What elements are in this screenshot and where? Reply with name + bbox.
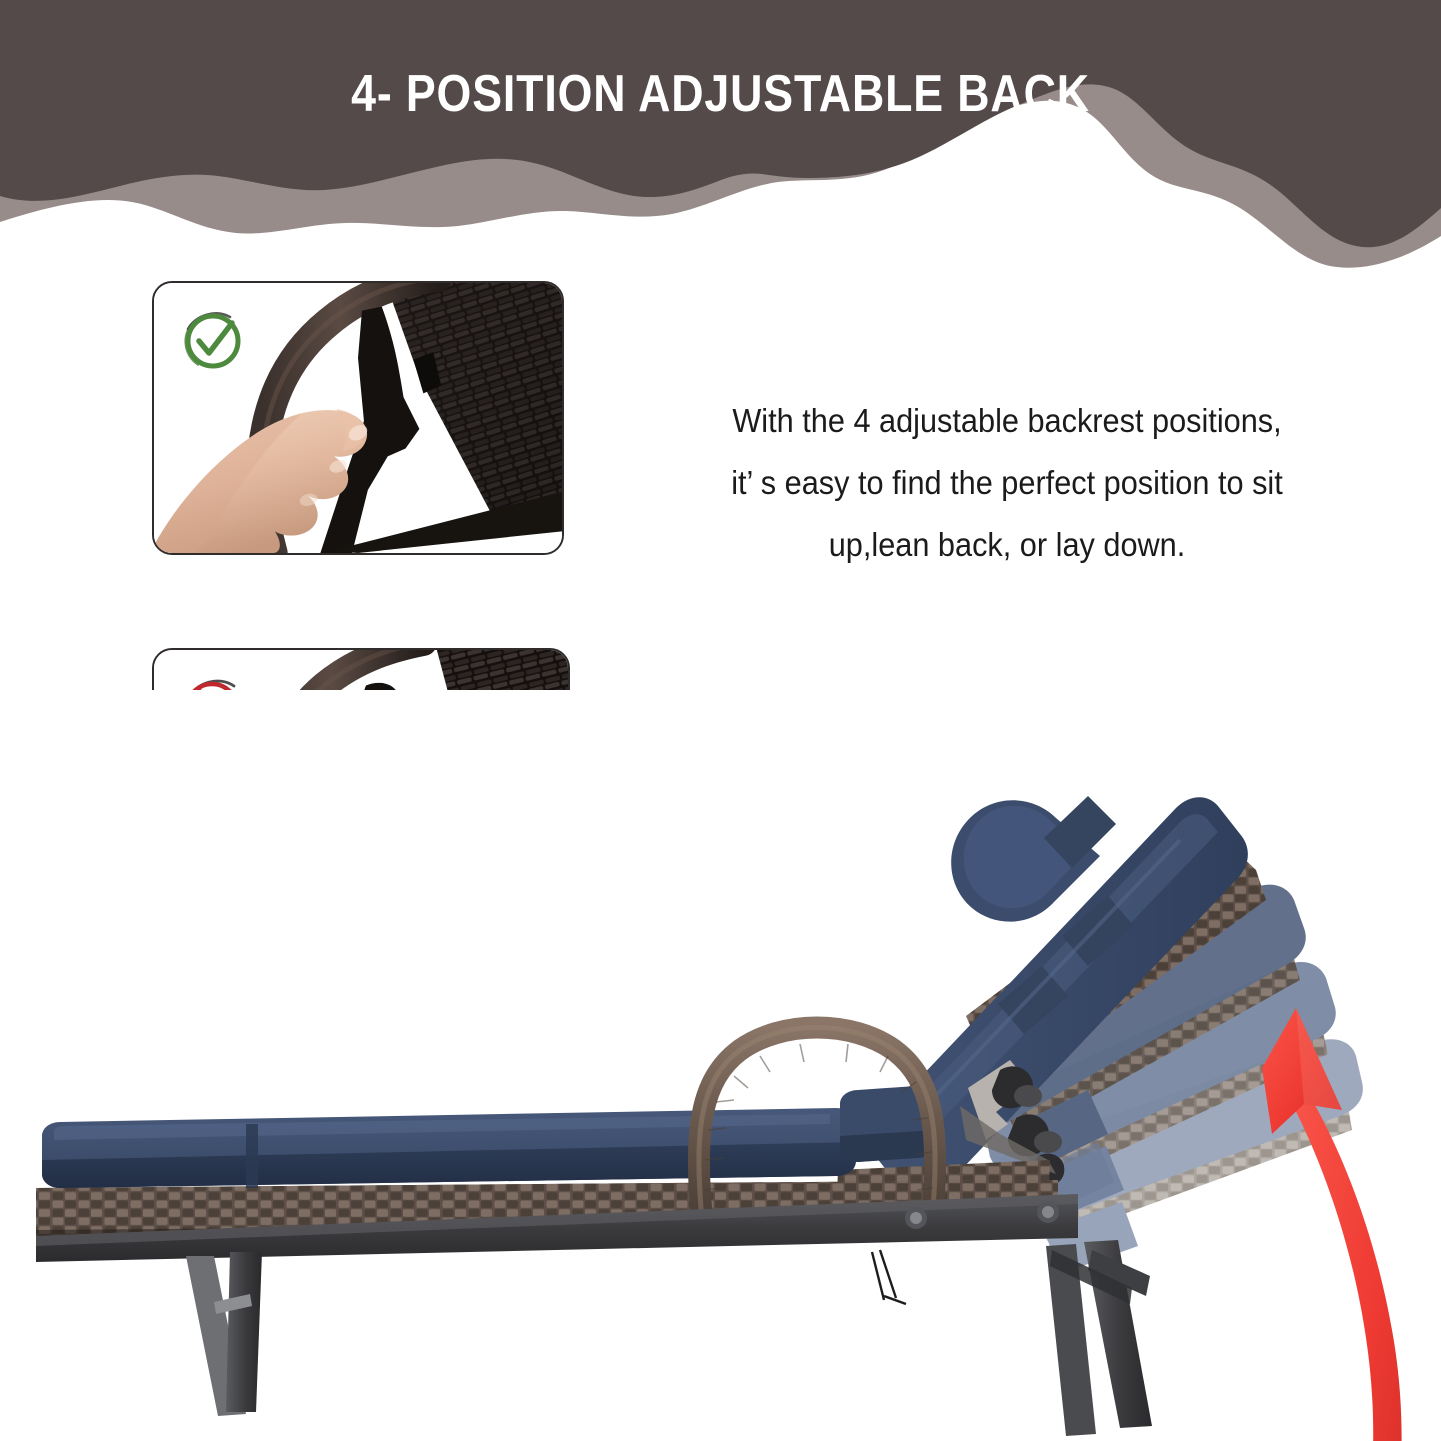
description-line-1: With the 4 adjustable backrest positions… [640,390,1375,452]
description-line-2: it’ s easy to find the perfect position … [640,452,1375,514]
product-illustration [0,690,1441,1441]
banner-wave-shape [0,0,1441,270]
check-circle-icon [176,303,250,377]
description-line-3: up,lean back, or lay down. [640,514,1375,576]
description-text: With the 4 adjustable backrest positions… [640,390,1375,576]
infographic-page: 4- POSITION ADJUSTABLE BACK [0,0,1441,1441]
correct-usage-panel [152,281,564,555]
header-banner: 4- POSITION ADJUSTABLE BACK [0,0,1441,270]
page-title: 4- POSITION ADJUSTABLE BACK [101,62,1340,126]
